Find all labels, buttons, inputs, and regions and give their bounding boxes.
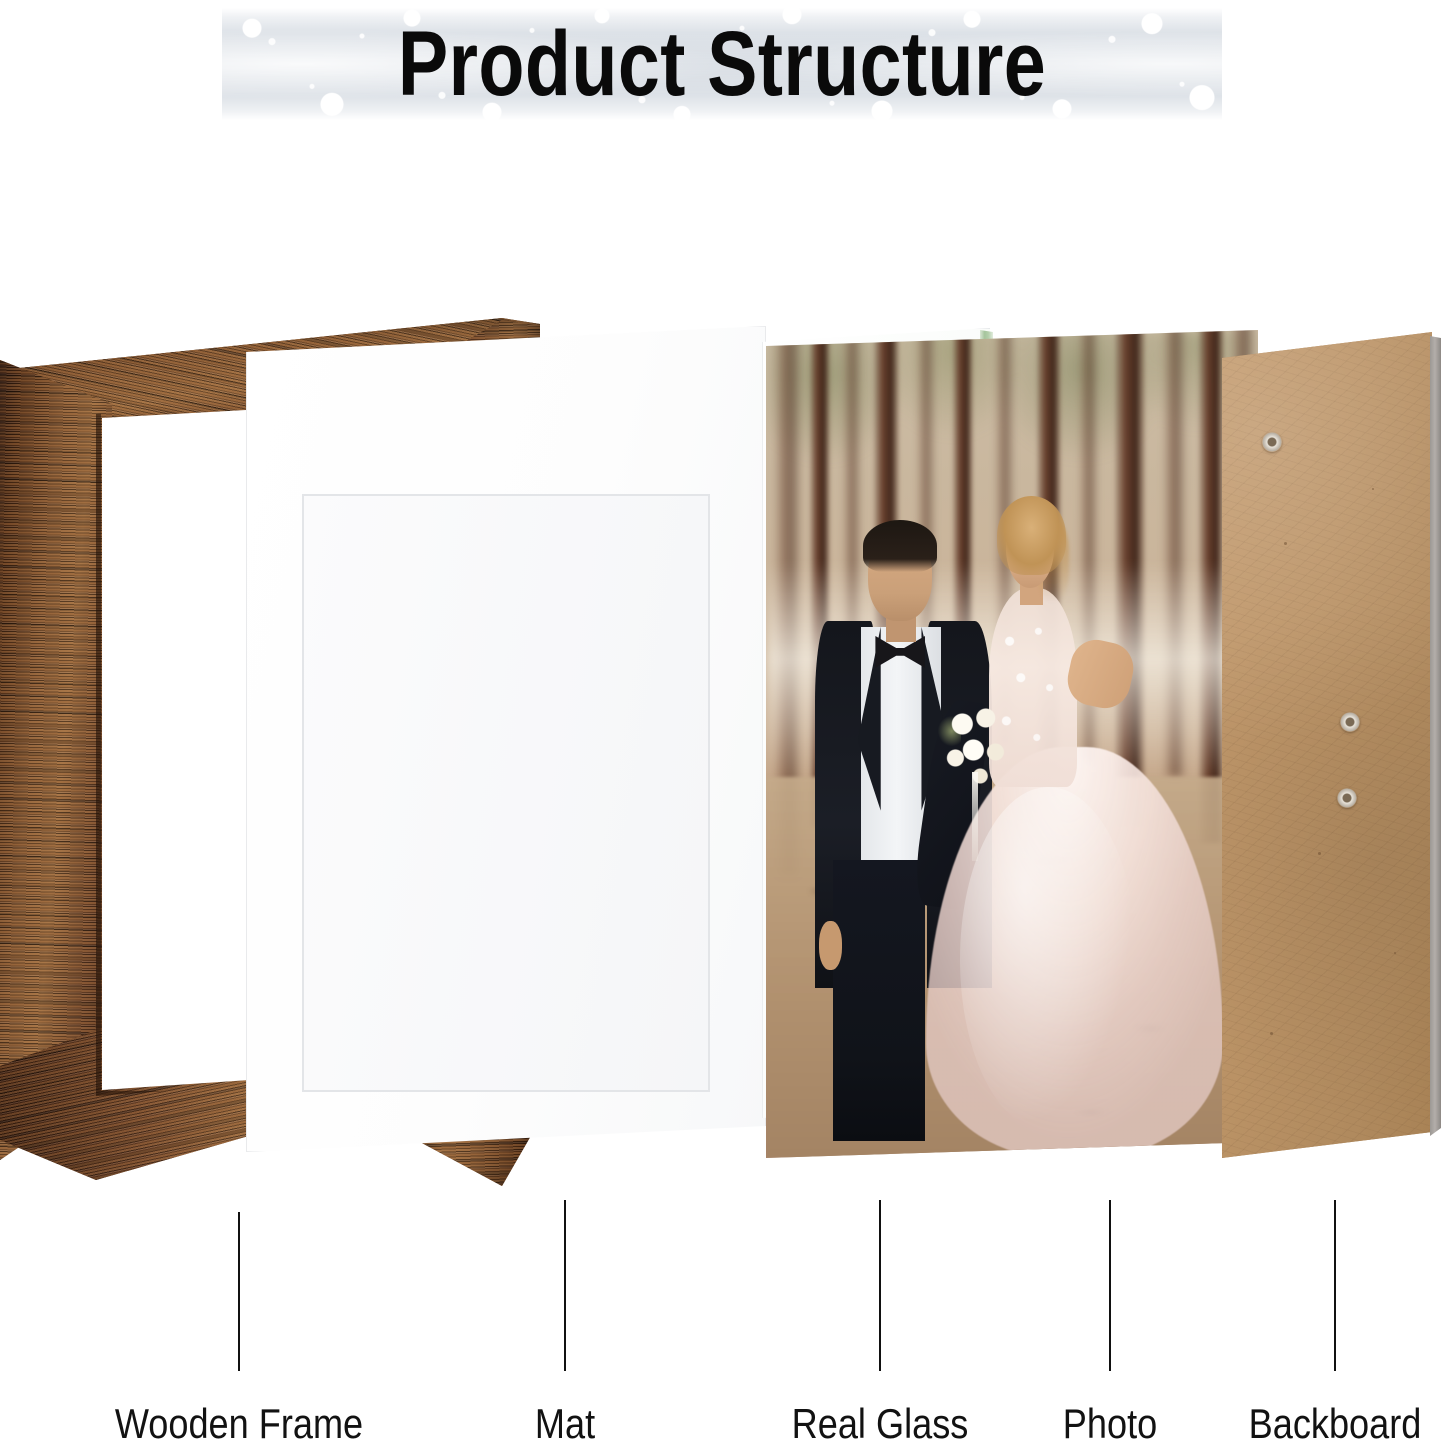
bouquet — [943, 694, 1012, 793]
backboard-side-edge — [1430, 336, 1441, 1162]
layer-photo — [766, 330, 1258, 1158]
backboard-fleck — [1270, 1032, 1273, 1035]
photo-image — [766, 330, 1258, 1158]
groom-hand — [819, 921, 842, 970]
layer-mat — [246, 326, 766, 1152]
leader-line-real-glass — [879, 1200, 881, 1371]
label-real-glass: Real Glass — [792, 1400, 969, 1448]
backboard-grommet-middle — [1340, 712, 1360, 732]
mat-window-cut — [302, 494, 710, 1092]
groom-trousers — [833, 860, 925, 1142]
page-title: Product Structure — [312, 8, 1132, 120]
leader-line-photo — [1109, 1200, 1111, 1371]
leader-line-wooden-frame — [238, 1212, 240, 1371]
backboard-grommet-bottom — [1337, 788, 1357, 808]
backboard-fleck — [1318, 852, 1321, 855]
title-banner: Product Structure — [222, 8, 1222, 120]
product-structure-infographic: Product Structure — [0, 0, 1445, 1451]
bouquet-ribbon — [972, 772, 978, 861]
label-backboard: Backboard — [1249, 1400, 1422, 1448]
leader-line-backboard — [1334, 1200, 1336, 1371]
groom-hair — [863, 520, 937, 572]
bride-hair — [997, 496, 1065, 575]
bride-figure — [943, 496, 1228, 1158]
label-wooden-frame: Wooden Frame — [115, 1400, 363, 1448]
bride-skirt-highlight — [960, 787, 1137, 1131]
label-photo: Photo — [1063, 1400, 1157, 1448]
leader-line-mat — [564, 1200, 566, 1371]
label-mat: Mat — [535, 1400, 595, 1448]
layer-backboard — [1222, 332, 1432, 1158]
backboard-fleck — [1284, 542, 1287, 545]
backboard-face — [1222, 332, 1432, 1158]
backboard-fleck — [1394, 952, 1396, 954]
backboard-grommet-top — [1262, 432, 1282, 452]
backboard-fleck — [1372, 488, 1374, 490]
